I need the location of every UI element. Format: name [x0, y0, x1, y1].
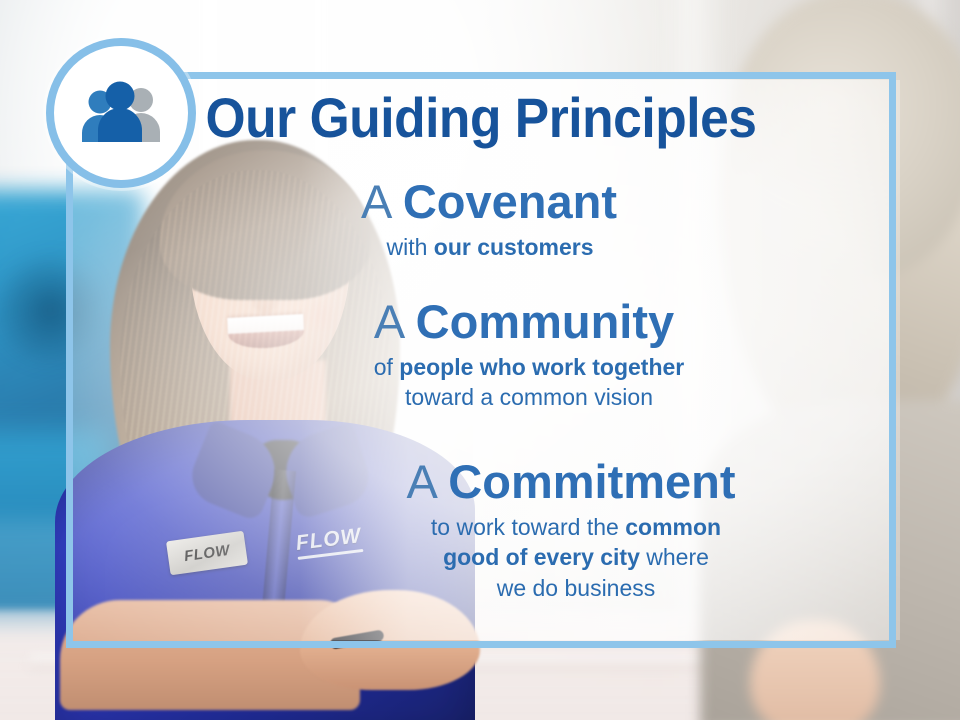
principle-subtext: with our customers — [86, 232, 876, 262]
principle-keyword: Commitment — [448, 455, 735, 508]
subtext-bold: common — [625, 514, 721, 540]
principle-heading: A Commitment — [86, 458, 876, 506]
principle-community: A Community of people who work together … — [86, 298, 876, 413]
subtext-line: good of every city where — [276, 542, 876, 572]
subtext-plain: where — [640, 544, 709, 570]
subtext-bold: people who work together — [399, 354, 684, 380]
subtext-bold: our customers — [434, 234, 594, 260]
principle-covenant: A Covenant with our customers — [86, 178, 876, 262]
subtext-plain: to work toward the — [431, 514, 625, 540]
principle-heading: A Community — [86, 298, 876, 346]
subtext-line: we do business — [276, 573, 876, 603]
principle-article: A — [374, 295, 416, 348]
content-block: Our Guiding Principles A Covenant with o… — [86, 80, 876, 640]
subtext-line: with our customers — [386, 234, 593, 260]
subtext-plain: of — [374, 354, 400, 380]
guiding-principles-banner: FLOW FLOW Our Guiding — [0, 0, 960, 720]
subtext-line: to work toward the common — [276, 512, 876, 542]
principle-subtext: of people who work together toward a com… — [86, 352, 876, 413]
subtext-bold: good of every city — [443, 544, 640, 570]
principle-subtext: to work toward the common good of every … — [86, 512, 876, 603]
page-title: Our Guiding Principles — [118, 90, 845, 146]
principle-heading: A Covenant — [86, 178, 876, 226]
principle-commitment: A Commitment to work toward the common g… — [86, 458, 876, 603]
subtext-line: toward a common vision — [182, 382, 876, 412]
principle-keyword: Community — [416, 295, 675, 348]
subtext-plain: with — [386, 234, 433, 260]
principle-article: A — [361, 175, 403, 228]
principle-keyword: Covenant — [403, 175, 617, 228]
subtext-line: of people who work together — [182, 352, 876, 382]
principle-article: A — [406, 455, 448, 508]
